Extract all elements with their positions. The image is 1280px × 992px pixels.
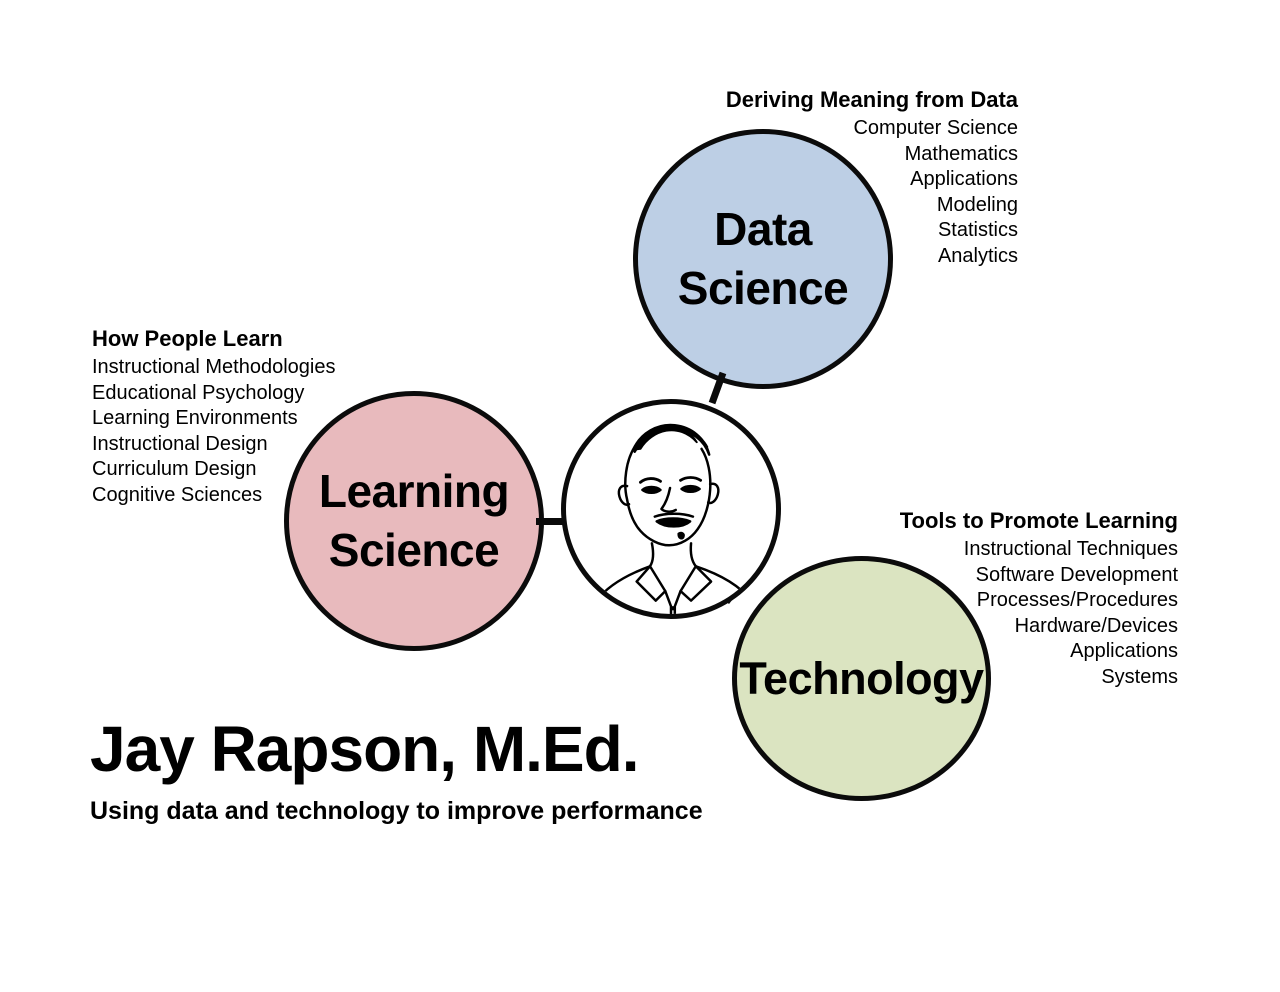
list-item: Instructional Methodologies (92, 355, 392, 381)
list-item: Processes/Procedures (868, 588, 1178, 614)
list-item: Computer Science (672, 116, 1018, 142)
group-data-science-list: Computer Science Mathematics Application… (672, 116, 1018, 269)
list-item: Statistics (672, 218, 1018, 244)
list-item: Mathematics (672, 142, 1018, 168)
list-item: Systems (868, 665, 1178, 691)
group-technology-list: Instructional Techniques Software Develo… (868, 537, 1178, 690)
tagline: Using data and technology to improve per… (90, 796, 810, 826)
list-item: Cognitive Sciences (92, 483, 392, 509)
group-learning-science: How People Learn Instructional Methodolo… (92, 326, 392, 508)
list-item: Learning Environments (92, 406, 392, 432)
group-data-science-heading: Deriving Meaning from Data (672, 87, 1018, 113)
branding-block: Jay Rapson, M.Ed. Using data and technol… (90, 714, 810, 826)
list-item: Applications (868, 639, 1178, 665)
circle-portrait (561, 399, 781, 619)
list-item: Hardware/Devices (868, 614, 1178, 640)
list-item: Curriculum Design (92, 457, 392, 483)
person-name: Jay Rapson, M.Ed. (90, 714, 810, 784)
list-item: Instructional Techniques (868, 537, 1178, 563)
list-item: Software Development (868, 563, 1178, 589)
group-learning-science-list: Instructional Methodologies Educational … (92, 355, 392, 508)
group-technology-heading: Tools to Promote Learning (868, 508, 1178, 534)
list-item: Applications (672, 167, 1018, 193)
list-item: Analytics (672, 244, 1018, 270)
list-item: Instructional Design (92, 432, 392, 458)
group-technology: Tools to Promote Learning Instructional … (868, 508, 1178, 690)
person-portrait-icon (566, 404, 776, 614)
list-item: Educational Psychology (92, 381, 392, 407)
group-data-science: Deriving Meaning from Data Computer Scie… (672, 87, 1018, 269)
group-learning-science-heading: How People Learn (92, 326, 392, 352)
list-item: Modeling (672, 193, 1018, 219)
diagram-canvas: Data Science Learning Science Technology (0, 0, 1280, 992)
